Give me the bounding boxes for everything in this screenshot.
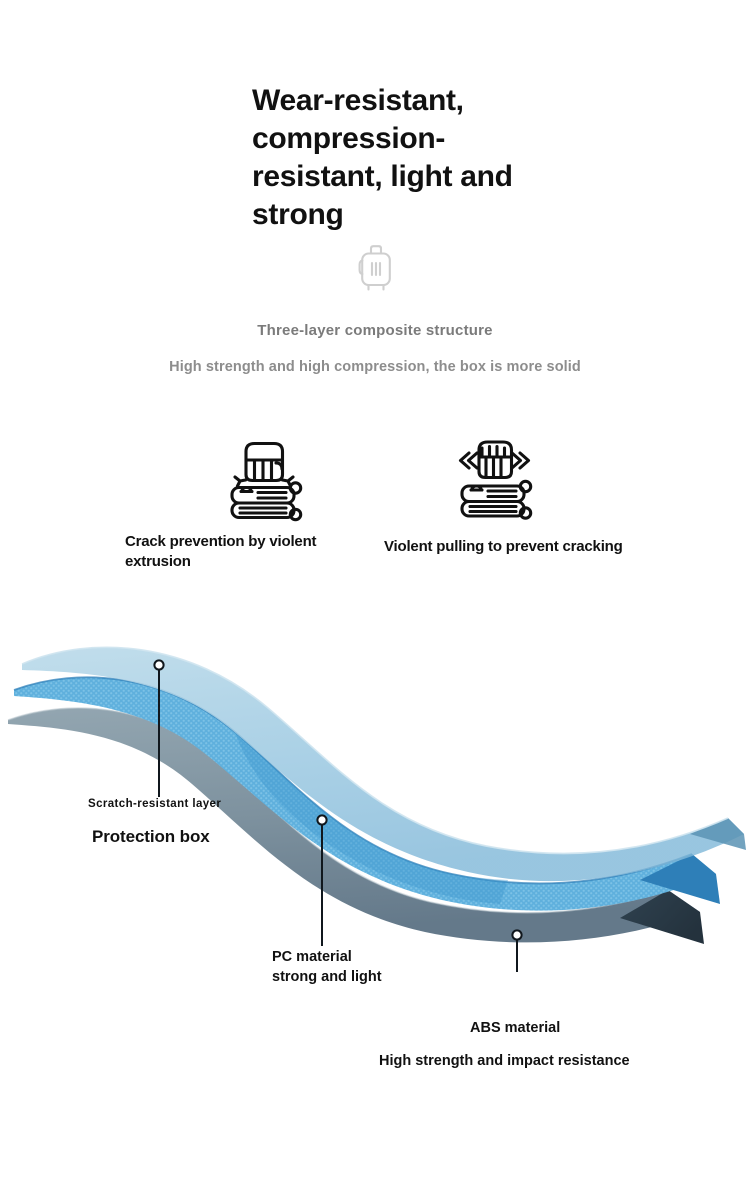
suitcase-icon [358,243,394,300]
callout-label-scratch: Scratch-resistant layer [88,798,221,810]
subtitle-secondary: High strength and high compression, the … [0,359,750,375]
callout-label-abs-material: ABS material [470,1020,560,1036]
page-title: Wear-resistant, compression-resistant, l… [252,82,552,234]
product-infographic: Wear-resistant, compression-resistant, l… [0,0,750,1189]
subtitle-primary: Three-layer composite structure [0,322,750,339]
callout-label-protection-box: Protection box [92,827,210,847]
feature-caption-pulling: Violent pulling to prevent cracking [384,537,674,557]
fist-pulling-suitcase-icon [446,430,542,531]
exploded-layer-diagram [0,612,750,972]
callout-label-abs-description: High strength and impact resistance [379,1053,630,1069]
callout-leader-abs [512,930,521,972]
fist-pressing-suitcase-icon [216,430,312,531]
feature-caption-extrusion: Crack prevention by violent extrusion [125,532,375,572]
callout-label-pc-material: PC material strong and light [272,948,392,987]
